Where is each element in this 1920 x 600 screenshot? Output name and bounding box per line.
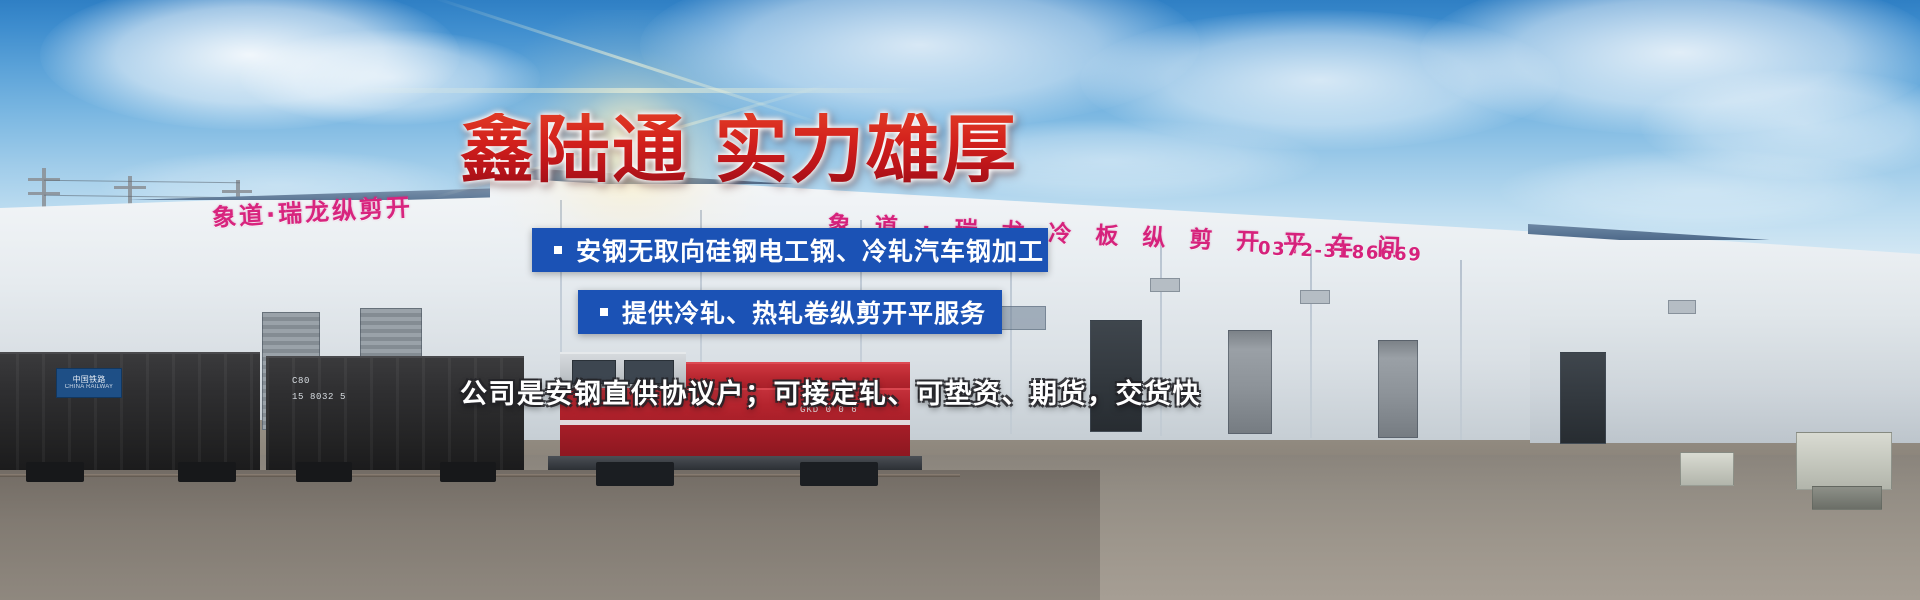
roof-vent bbox=[1300, 290, 1330, 304]
service-door bbox=[1378, 340, 1418, 438]
cloud-shape bbox=[1500, 150, 1900, 230]
pole-crossarm bbox=[222, 190, 252, 193]
cloud-shape bbox=[1640, 70, 1920, 180]
locomotive-truck bbox=[800, 462, 878, 486]
yard-machinery bbox=[1680, 452, 1734, 486]
tagline: 公司是安钢直供协议户；可接定轧、可垫资、期货，交货快 bbox=[460, 372, 1201, 411]
wagon-bogie bbox=[178, 462, 236, 482]
open-bay-door bbox=[1560, 352, 1606, 444]
yard-machinery-base bbox=[1812, 486, 1882, 510]
roof-vent bbox=[1668, 300, 1696, 314]
feature-text-1: 安钢无取向硅钢电工钢、冷轧汽车钢加工 bbox=[576, 232, 1044, 268]
roof-vent bbox=[1150, 278, 1180, 292]
wagon-code-bottom: 15 8032 5 bbox=[292, 392, 346, 402]
yard-machinery bbox=[1796, 432, 1892, 490]
wagon-bogie bbox=[296, 462, 352, 482]
wagon-ribbing bbox=[0, 354, 260, 470]
locomotive-truck bbox=[596, 462, 674, 486]
pole-crossarm bbox=[114, 186, 146, 189]
service-door bbox=[1228, 330, 1272, 434]
cloud-shape bbox=[1420, 0, 1920, 135]
railway-logo-cn: 中国铁路 bbox=[73, 375, 106, 384]
bullet-square-icon bbox=[600, 308, 608, 316]
promo-banner: 象道·瑞龙纵剪开 象 道 · 瑞 龙 冷 板 纵 剪 开 平 车 间 0372-… bbox=[0, 0, 1920, 600]
wagon-code-top: C80 bbox=[292, 376, 310, 386]
wall-seam bbox=[1310, 250, 1312, 438]
cloud-shape bbox=[1080, 10, 1560, 150]
headline-part-brand: 鑫陆通 bbox=[460, 113, 688, 187]
bullet-square-icon bbox=[554, 246, 562, 254]
rail-ballast bbox=[0, 470, 1100, 600]
wagon-bogie bbox=[26, 462, 84, 482]
feature-text-2: 提供冷轧、热轧卷纵剪开平服务 bbox=[622, 294, 986, 330]
railway-logo-en: CHINA RAILWAY bbox=[65, 384, 114, 391]
freight-wagon bbox=[0, 352, 260, 470]
wagon-bogie bbox=[440, 462, 496, 482]
hall-window bbox=[1000, 306, 1046, 330]
headline: 鑫陆通 实力雄厚 bbox=[460, 100, 1120, 200]
feature-box-2: 提供冷轧、热轧卷纵剪开平服务 bbox=[578, 290, 1002, 334]
headline-part-strength: 实力雄厚 bbox=[714, 113, 1018, 187]
locomotive-stripe bbox=[560, 420, 910, 425]
railway-logo-plate: 中国铁路 CHINA RAILWAY bbox=[56, 368, 122, 398]
cloud-shape bbox=[40, 0, 460, 130]
wall-seam bbox=[1460, 260, 1462, 440]
feature-box-1: 安钢无取向硅钢电工钢、冷轧汽车钢加工 bbox=[532, 228, 1048, 272]
